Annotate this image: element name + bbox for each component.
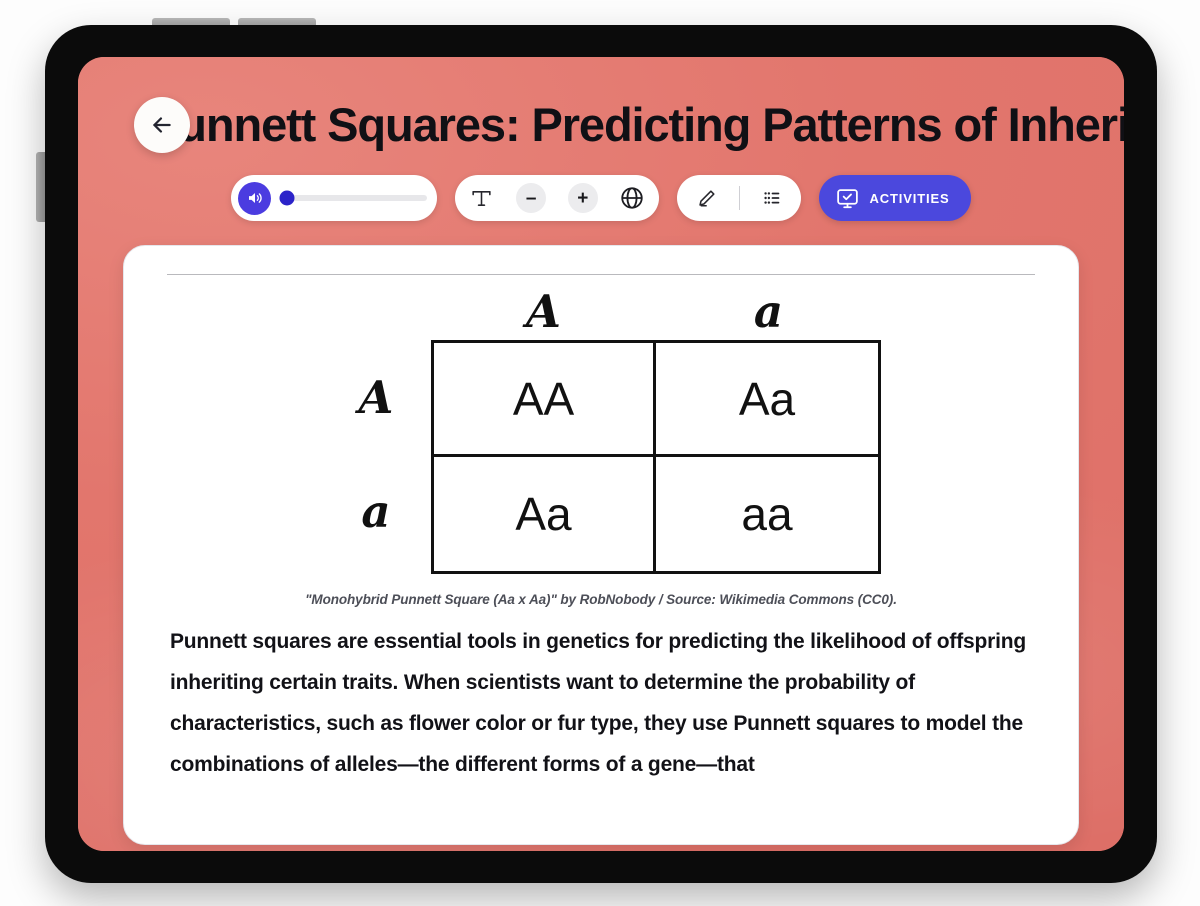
screenshot-stage: Punnett Squares: Predicting Patterns of …: [0, 0, 1200, 906]
punnett-cell-aa-2: Aa: [656, 343, 878, 457]
punnett-cell-aa-4: aa: [656, 457, 878, 571]
figure-caption: "Monohybrid Punnett Square (Aa x Aa)" by…: [162, 592, 1040, 607]
monitor-check-icon: [835, 186, 860, 211]
pencil-edit-icon: [695, 187, 718, 210]
pencil-button[interactable]: [695, 187, 718, 210]
toolbar: – +: [78, 175, 1124, 221]
tablet-screen: Punnett Squares: Predicting Patterns of …: [78, 57, 1124, 851]
text-format-T-icon: [469, 186, 494, 211]
list-outline-icon: [761, 187, 783, 209]
globe-icon: [619, 185, 645, 211]
language-button[interactable]: [619, 185, 645, 211]
punnett-row-headers: A a: [321, 340, 431, 574]
annotation-tools-pill: [677, 175, 801, 221]
power-button[interactable]: [36, 152, 45, 222]
punnett-col-header-2: a: [656, 281, 881, 340]
app-header: Punnett Squares: Predicting Patterns of …: [78, 57, 1124, 167]
content-card[interactable]: A a A a AA Aa Aa aa: [123, 245, 1079, 845]
text-format-button[interactable]: [469, 186, 494, 211]
punnett-cell-aa-1: AA: [434, 343, 656, 457]
punnett-corner-spacer: [321, 281, 431, 340]
body-paragraph: Punnett squares are essential tools in g…: [162, 621, 1040, 785]
figure: A a A a AA Aa Aa aa: [162, 246, 1040, 607]
punnett-body: A a AA Aa Aa aa: [321, 340, 881, 574]
tablet-frame: Punnett Squares: Predicting Patterns of …: [45, 25, 1157, 883]
font-controls-pill: – +: [455, 175, 659, 221]
punnett-row-header-2: a: [321, 454, 431, 568]
punnett-header-row: A a: [321, 281, 881, 340]
tools-divider: [739, 186, 740, 210]
punnett-cell-aa-3: Aa: [434, 457, 656, 571]
audio-progress-slider[interactable]: [282, 195, 427, 201]
punnett-col-header-1: A: [431, 281, 656, 340]
punnett-square-diagram: A a A a AA Aa Aa aa: [321, 275, 881, 574]
speaker-play-button[interactable]: [238, 182, 271, 215]
audio-player-pill: [231, 175, 437, 221]
activities-button[interactable]: ACTIVITIES: [819, 175, 970, 221]
arrow-left-icon: [149, 112, 175, 138]
audio-slider-knob[interactable]: [279, 191, 294, 206]
speaker-volume-icon: [246, 189, 264, 207]
outline-button[interactable]: [761, 187, 783, 209]
activities-label: ACTIVITIES: [869, 191, 949, 206]
back-button[interactable]: [134, 97, 190, 153]
page-title: Punnett Squares: Predicting Patterns of …: [148, 95, 1114, 155]
increase-font-size-button[interactable]: +: [568, 183, 598, 213]
decrease-font-size-button[interactable]: –: [516, 183, 546, 213]
punnett-grid: AA Aa Aa aa: [431, 340, 881, 574]
punnett-row-header-1: A: [321, 340, 431, 454]
